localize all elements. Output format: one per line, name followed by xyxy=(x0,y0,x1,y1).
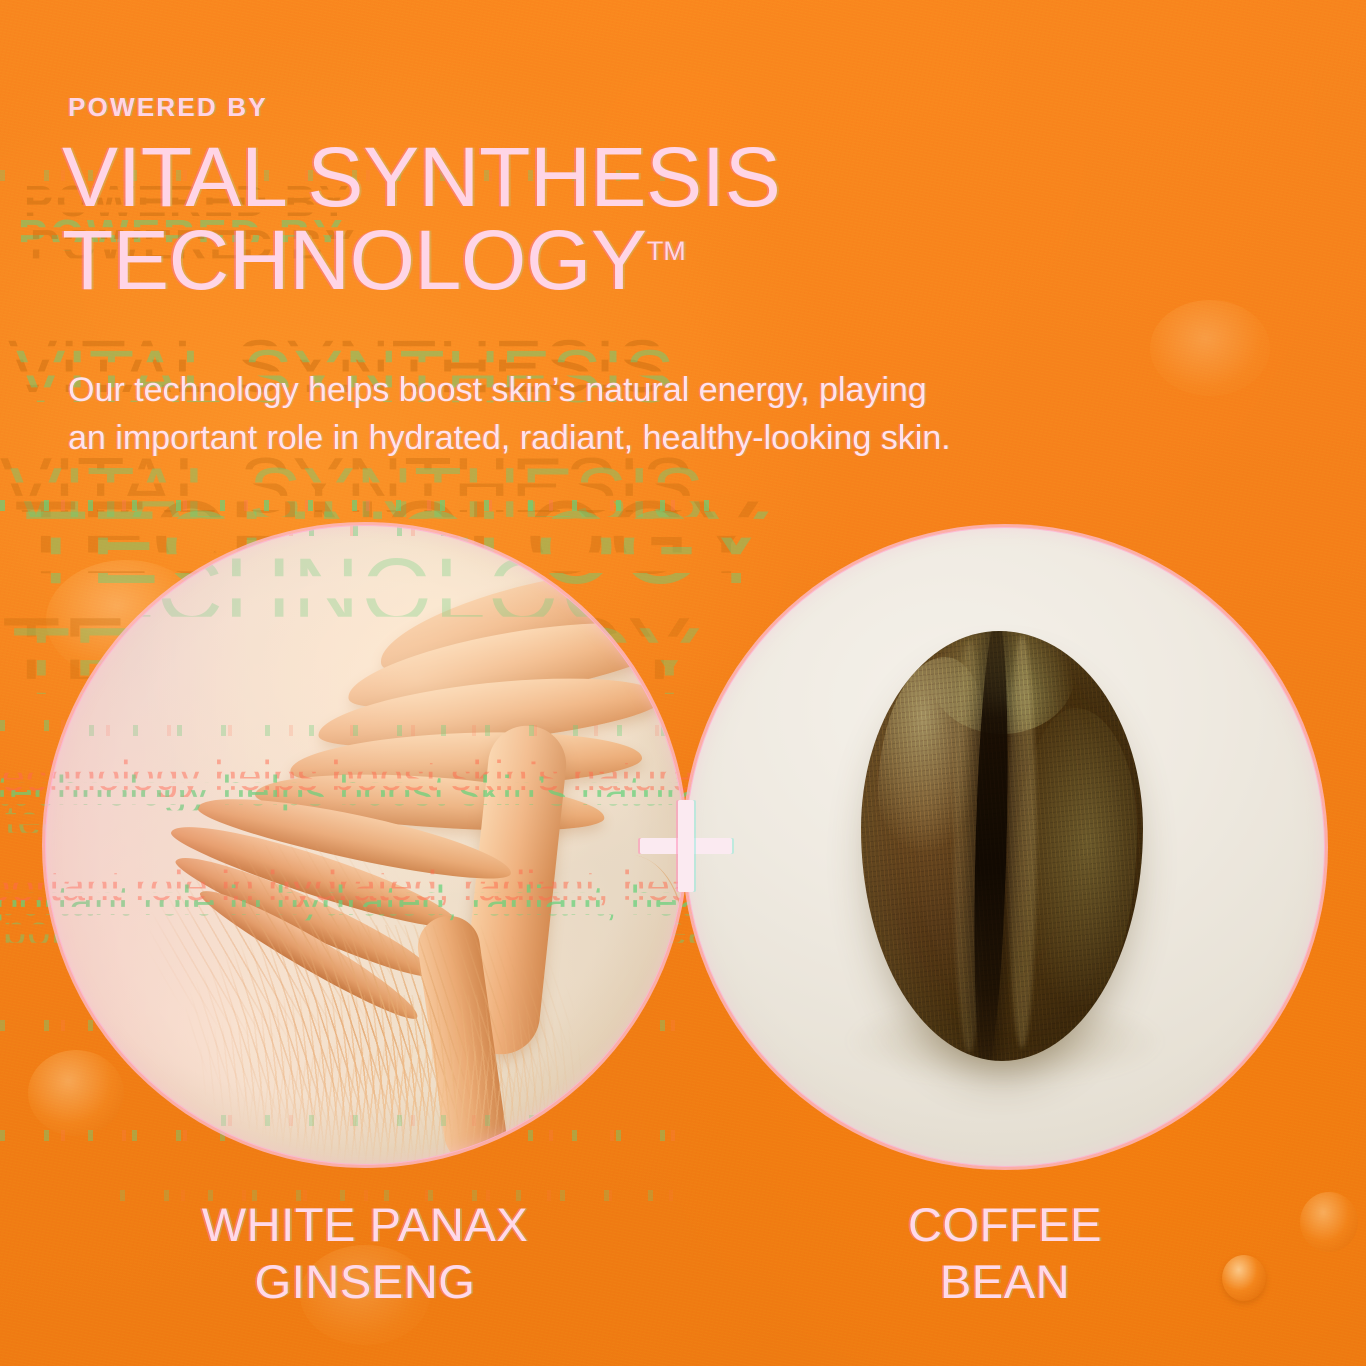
headline-line-2: TECHNOLOGY xyxy=(62,213,647,307)
trademark-symbol: TM xyxy=(647,236,686,266)
coffee-bean xyxy=(861,631,1143,1061)
ingredient-label-line-1: COFFEE xyxy=(908,1198,1102,1251)
body-copy-line-2: an important role in hydrated, radiant, … xyxy=(68,419,951,457)
ingredient-label-coffee: COFFEE BEAN xyxy=(685,1196,1325,1311)
ingredient-label-line-2: GINSENG xyxy=(255,1255,476,1308)
glitch-echo-text: VITAL SYNTHESIS xyxy=(10,456,705,534)
body-copy-line-1: Our technology helps boost skin’s natura… xyxy=(68,371,927,409)
eyebrow-label: POWERED BY xyxy=(68,92,268,123)
ingredient-image-coffee xyxy=(685,527,1325,1167)
ginseng-tendril-fan xyxy=(105,845,435,1075)
water-droplet xyxy=(1150,300,1270,396)
bean-surface-texture xyxy=(861,631,1143,1061)
headline-line-1: VITAL SYNTHESIS xyxy=(62,130,780,224)
page-title: VITAL SYNTHESIS TECHNOLOGYTM xyxy=(62,136,780,302)
ingredient-label-line-1: WHITE PANAX xyxy=(202,1198,529,1251)
body-copy: Our technology helps boost skin’s natura… xyxy=(68,366,951,463)
ingredient-label-line-2: BEAN xyxy=(940,1255,1070,1308)
promo-graphic: POWERED BY POWERED BY POWERED BY VITAL S… xyxy=(0,0,1366,1366)
ingredient-label-ginseng: WHITE PANAX GINSENG xyxy=(45,1196,685,1311)
ingredient-image-ginseng: Our technology helps boost skin’s natura… xyxy=(45,525,685,1165)
